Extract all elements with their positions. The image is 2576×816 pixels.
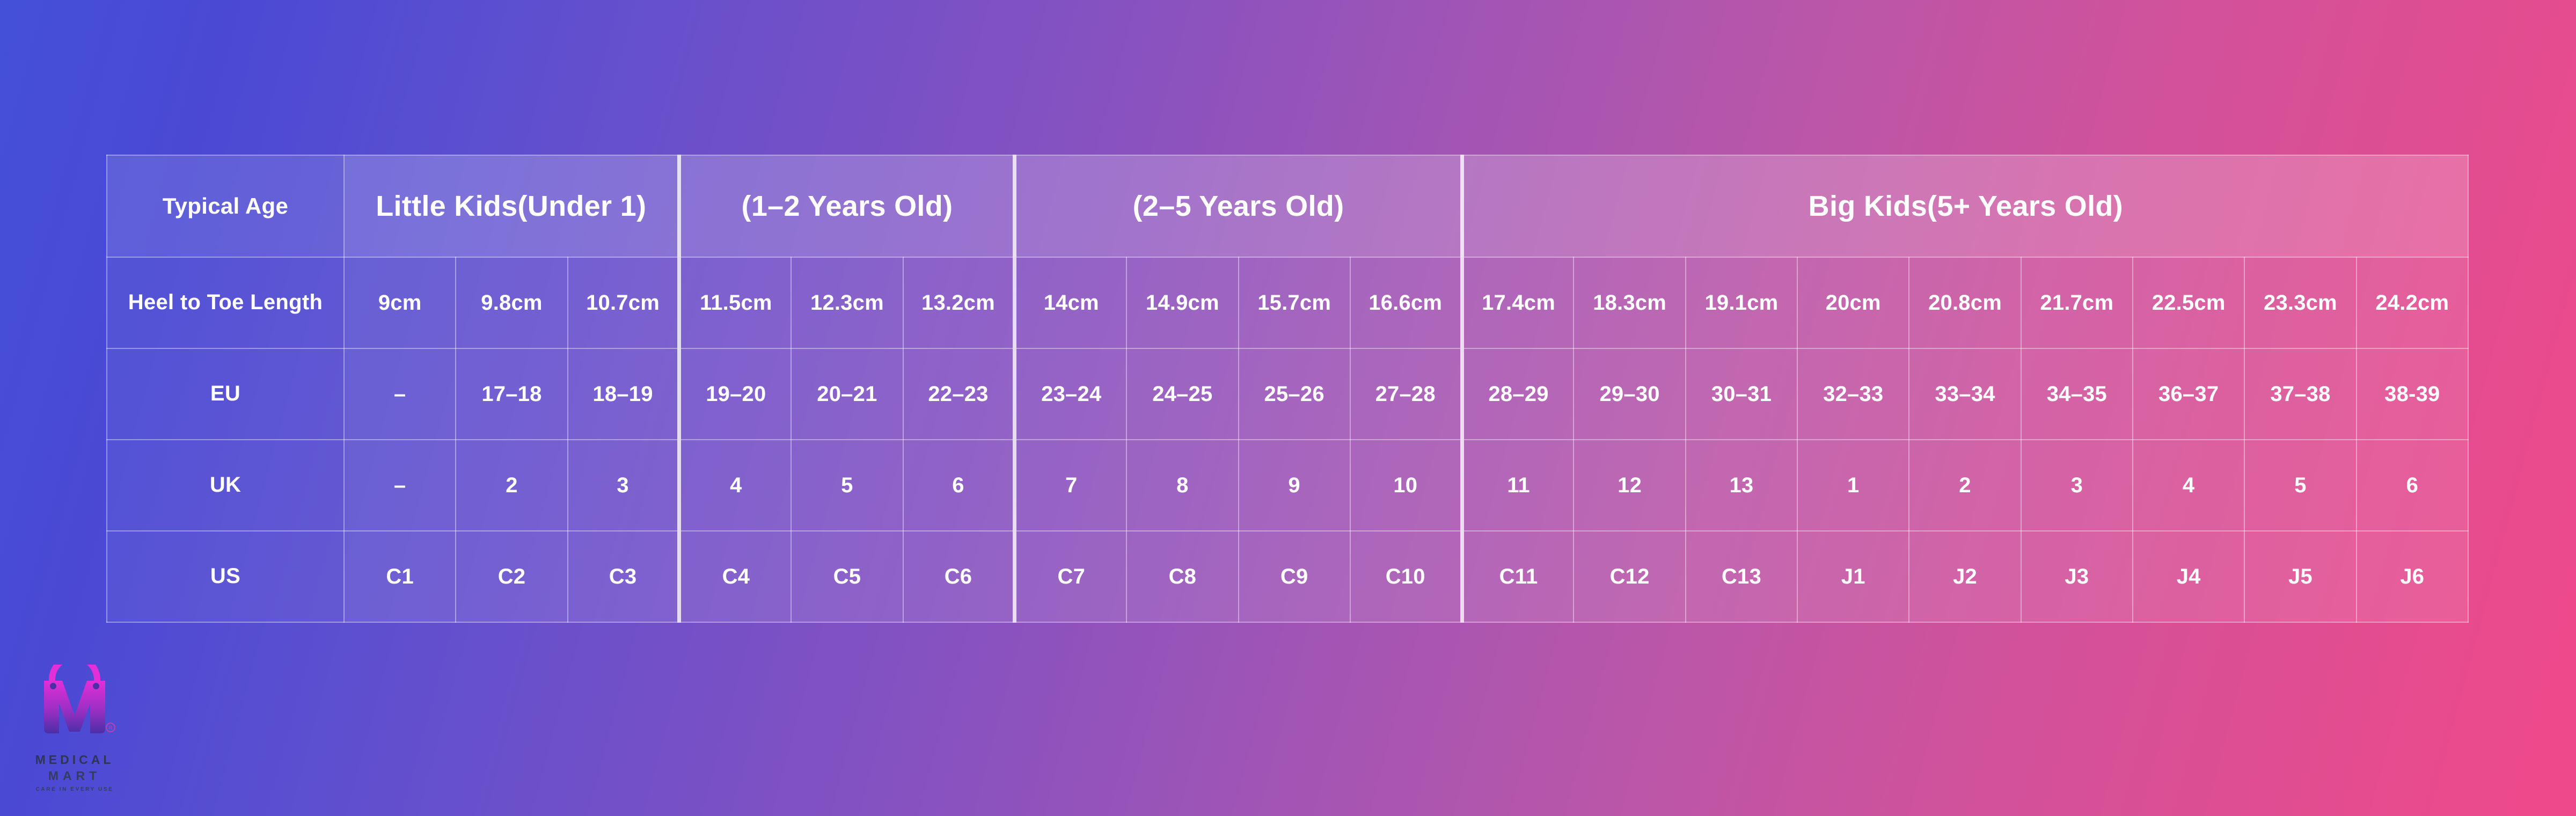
cell-us-10: C10 <box>1350 531 1462 622</box>
row-label-uk: UK <box>107 440 344 531</box>
cell-eu-5: 20–21 <box>791 348 903 440</box>
cell-uk-14: 1 <box>1797 440 1909 531</box>
cell-us-15: J2 <box>1909 531 2021 622</box>
cell-us-8: C8 <box>1126 531 1238 622</box>
cell-uk-7: 7 <box>1015 440 1126 531</box>
cell-eu-18: 37–38 <box>2244 348 2356 440</box>
cell-uk-11: 11 <box>1462 440 1574 531</box>
cell-eu-3: 18–19 <box>568 348 679 440</box>
age-group-2-5-years: (2–5 Years Old) <box>1015 155 1462 257</box>
cell-uk-18: 5 <box>2244 440 2356 531</box>
cell-us-9: C9 <box>1239 531 1350 622</box>
cell-us-13: C13 <box>1686 531 1797 622</box>
cell-heel_to_toe-17: 22.5cm <box>2133 257 2244 348</box>
cell-eu-15: 33–34 <box>1909 348 2021 440</box>
cell-us-11: C11 <box>1462 531 1574 622</box>
row-label-typical-age: Typical Age <box>107 155 344 257</box>
cell-heel_to_toe-19: 24.2cm <box>2357 257 2468 348</box>
cell-heel_to_toe-18: 23.3cm <box>2244 257 2356 348</box>
cell-heel_to_toe-12: 18.3cm <box>1574 257 1685 348</box>
age-group-little-kids: Little Kids(Under 1) <box>344 155 679 257</box>
cell-uk-15: 2 <box>1909 440 2021 531</box>
cell-eu-16: 34–35 <box>2021 348 2133 440</box>
cell-us-18: J5 <box>2244 531 2356 622</box>
cell-eu-12: 29–30 <box>1574 348 1685 440</box>
cell-uk-12: 12 <box>1574 440 1685 531</box>
cell-eu-6: 22–23 <box>903 348 1015 440</box>
cell-heel_to_toe-16: 21.7cm <box>2021 257 2133 348</box>
brand-name-line1: MEDICAL <box>8 754 142 766</box>
cell-uk-2: 2 <box>456 440 567 531</box>
cell-heel_to_toe-7: 14cm <box>1015 257 1126 348</box>
cell-us-3: C3 <box>568 531 679 622</box>
cell-uk-3: 3 <box>568 440 679 531</box>
cell-heel_to_toe-11: 17.4cm <box>1462 257 1574 348</box>
cell-heel_to_toe-14: 20cm <box>1797 257 1909 348</box>
age-group-header-row: Typical Age Little Kids(Under 1) (1–2 Ye… <box>107 155 2468 257</box>
cell-heel_to_toe-5: 12.3cm <box>791 257 903 348</box>
age-group-big-kids: Big Kids(5+ Years Old) <box>1462 155 2468 257</box>
cell-us-4: C4 <box>679 531 791 622</box>
cell-uk-17: 4 <box>2133 440 2244 531</box>
cell-heel_to_toe-10: 16.6cm <box>1350 257 1462 348</box>
cell-eu-7: 23–24 <box>1015 348 1126 440</box>
cell-uk-13: 13 <box>1686 440 1797 531</box>
cell-heel_to_toe-15: 20.8cm <box>1909 257 2021 348</box>
cell-us-6: C6 <box>903 531 1015 622</box>
row-label-eu: EU <box>107 348 344 440</box>
cell-heel_to_toe-6: 13.2cm <box>903 257 1015 348</box>
cell-uk-19: 6 <box>2357 440 2468 531</box>
cell-uk-6: 6 <box>903 440 1015 531</box>
cell-eu-14: 32–33 <box>1797 348 1909 440</box>
table-row-heel_to_toe: Heel to Toe Length9cm9.8cm10.7cm11.5cm12… <box>107 257 2468 348</box>
table-row-us: USC1C2C3C4C5C6C7C8C9C10C11C12C13J1J2J3J4… <box>107 531 2468 622</box>
cell-heel_to_toe-3: 10.7cm <box>568 257 679 348</box>
cell-heel_to_toe-1: 9cm <box>344 257 456 348</box>
cell-eu-19: 38-39 <box>2357 348 2468 440</box>
cell-eu-1: – <box>344 348 456 440</box>
cell-us-7: C7 <box>1015 531 1126 622</box>
age-group-1-2-years: (1–2 Years Old) <box>679 155 1015 257</box>
cell-uk-16: 3 <box>2021 440 2133 531</box>
cell-uk-10: 10 <box>1350 440 1462 531</box>
cell-us-1: C1 <box>344 531 456 622</box>
size-chart-container: Typical Age Little Kids(Under 1) (1–2 Ye… <box>106 155 2469 615</box>
cell-eu-8: 24–25 <box>1126 348 1238 440</box>
cell-uk-4: 4 <box>679 440 791 531</box>
row-label-heel_to_toe: Heel to Toe Length <box>107 257 344 348</box>
cell-heel_to_toe-8: 14.9cm <box>1126 257 1238 348</box>
brand-name-line2: MART <box>8 770 142 782</box>
table-row-eu: EU–17–1818–1919–2020–2122–2323–2424–2525… <box>107 348 2468 440</box>
cell-eu-10: 27–28 <box>1350 348 1462 440</box>
table-body: Typical Age Little Kids(Under 1) (1–2 Ye… <box>107 155 2468 622</box>
medical-mart-bag-m-icon: R <box>29 665 120 751</box>
cell-us-14: J1 <box>1797 531 1909 622</box>
svg-text:R: R <box>108 725 112 731</box>
cell-eu-17: 36–37 <box>2133 348 2244 440</box>
cell-heel_to_toe-2: 9.8cm <box>456 257 567 348</box>
cell-us-2: C2 <box>456 531 567 622</box>
brand-tagline: CARE IN EVERY USE <box>8 787 142 792</box>
cell-us-19: J6 <box>2357 531 2468 622</box>
cell-uk-5: 5 <box>791 440 903 531</box>
cell-uk-1: – <box>344 440 456 531</box>
cell-eu-9: 25–26 <box>1239 348 1350 440</box>
table-row-uk: UK–2345678910111213123456 <box>107 440 2468 531</box>
cell-uk-9: 9 <box>1239 440 1350 531</box>
cell-heel_to_toe-9: 15.7cm <box>1239 257 1350 348</box>
cell-eu-2: 17–18 <box>456 348 567 440</box>
cell-us-17: J4 <box>2133 531 2244 622</box>
brand-logo: R MEDICAL MART CARE IN EVERY USE <box>8 665 142 810</box>
cell-us-5: C5 <box>791 531 903 622</box>
cell-uk-8: 8 <box>1126 440 1238 531</box>
shoe-size-chart-table: Typical Age Little Kids(Under 1) (1–2 Ye… <box>106 155 2469 623</box>
cell-eu-4: 19–20 <box>679 348 791 440</box>
cell-heel_to_toe-4: 11.5cm <box>679 257 791 348</box>
cell-eu-13: 30–31 <box>1686 348 1797 440</box>
cell-us-16: J3 <box>2021 531 2133 622</box>
cell-us-12: C12 <box>1574 531 1685 622</box>
row-label-us: US <box>107 531 344 622</box>
cell-heel_to_toe-13: 19.1cm <box>1686 257 1797 348</box>
cell-eu-11: 28–29 <box>1462 348 1574 440</box>
